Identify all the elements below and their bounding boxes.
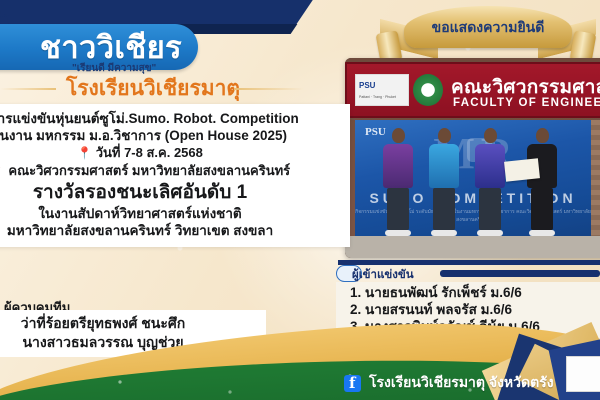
faculty-name-en: FACULTY OF ENGINEERING	[453, 97, 600, 109]
photo-person	[527, 128, 557, 236]
award-photo: PSU Pattani · Trang · Phuket คณะวิศวกรรม…	[345, 58, 600, 258]
list-item: ว่าที่ร้อยตรียุทธพงศ์ ชนะศึก	[0, 314, 258, 333]
certificate-envelope	[504, 158, 540, 181]
achievement-line-6: มหาวิทยาลัยสงขลานครินทร์ วิทยาเขต สงขลา	[0, 222, 340, 239]
achievement-line-1: ลการแข่งขันหุ่นยนต์ซูโม่.Sumo. Robot. Co…	[0, 110, 340, 127]
participants-top-rule	[338, 260, 600, 265]
location-pin-icon: 📍	[0, 164, 5, 178]
school-name: โรงเรียนวิเชียรมาตุ	[66, 72, 240, 105]
photo-person	[429, 128, 459, 236]
gold-rule-left	[0, 88, 56, 90]
facebook-page-name: โรงเรียนวิเชียรมาตุ จังหวัดตรัง	[369, 372, 554, 394]
achievement-line-5: ในงานสัปดาห์วิทยาศาสตร์แห่งชาติ	[0, 205, 340, 222]
ribbon-arc: ขอแสดงความยินดี	[404, 6, 572, 48]
list-item: 1. นายธนพัฒน์ รักเพ็ชร์ ม.6/6	[336, 284, 600, 301]
congratulations-ribbon: ขอแสดงความยินดี	[380, 2, 595, 64]
university-seal-icon	[413, 74, 443, 106]
poster-canvas: งเล่า.... ชาววิเชียร "เรียนดี มีความสุข"…	[0, 0, 600, 400]
psu-logo-text: PSU	[359, 81, 375, 90]
photo-faculty-banner: PSU Pattani · Trang · Phuket คณะวิศวกรรม…	[345, 62, 600, 118]
award-title: รางวัลรองชนะเลิศอันดับ 1	[0, 180, 340, 205]
achievement-card: ลการแข่งขันหุ่นยนต์ซูโม่.Sumo. Robot. Co…	[0, 104, 350, 247]
corner-white-card	[566, 356, 600, 392]
achievement-venue-row: 📍 คณะวิศวกรรมศาสตร์ มหาวิทยาลัยสงขลานคริ…	[0, 162, 340, 180]
photo-floor	[345, 236, 600, 258]
gold-rule-right	[234, 88, 304, 90]
photo-brick-column	[591, 120, 600, 236]
list-item: 2. นายสรนนท์ พลจรัส ม.6/6	[336, 301, 600, 318]
photo-person	[383, 128, 413, 236]
achievement-venue: คณะวิศวกรรมศาสตร์ มหาวิทยาลัยสงขลานครินท…	[8, 163, 290, 178]
location-pin-icon: 📍	[77, 146, 92, 160]
psu-logo: PSU Pattani · Trang · Phuket	[355, 74, 409, 106]
facebook-icon[interactable]	[344, 375, 361, 392]
psu-logo-sub: Pattani · Trang · Phuket	[359, 95, 396, 99]
photo-person	[475, 128, 505, 236]
achievement-date-row: 📍 วันที่ 7-8 ส.ค. 2568	[0, 144, 340, 162]
footer-facebook[interactable]: โรงเรียนวิเชียรมาตุ จังหวัดตรัง	[344, 372, 554, 394]
achievement-line-2: ในงาน มหกรรม ม.อ.วิชาการ (Open House 202…	[0, 127, 340, 144]
participants-accent-bar	[440, 270, 600, 277]
ribbon-text: ขอแสดงความยินดี	[404, 17, 572, 39]
achievement-date: วันที่ 7-8 ส.ค. 2568	[96, 145, 203, 160]
